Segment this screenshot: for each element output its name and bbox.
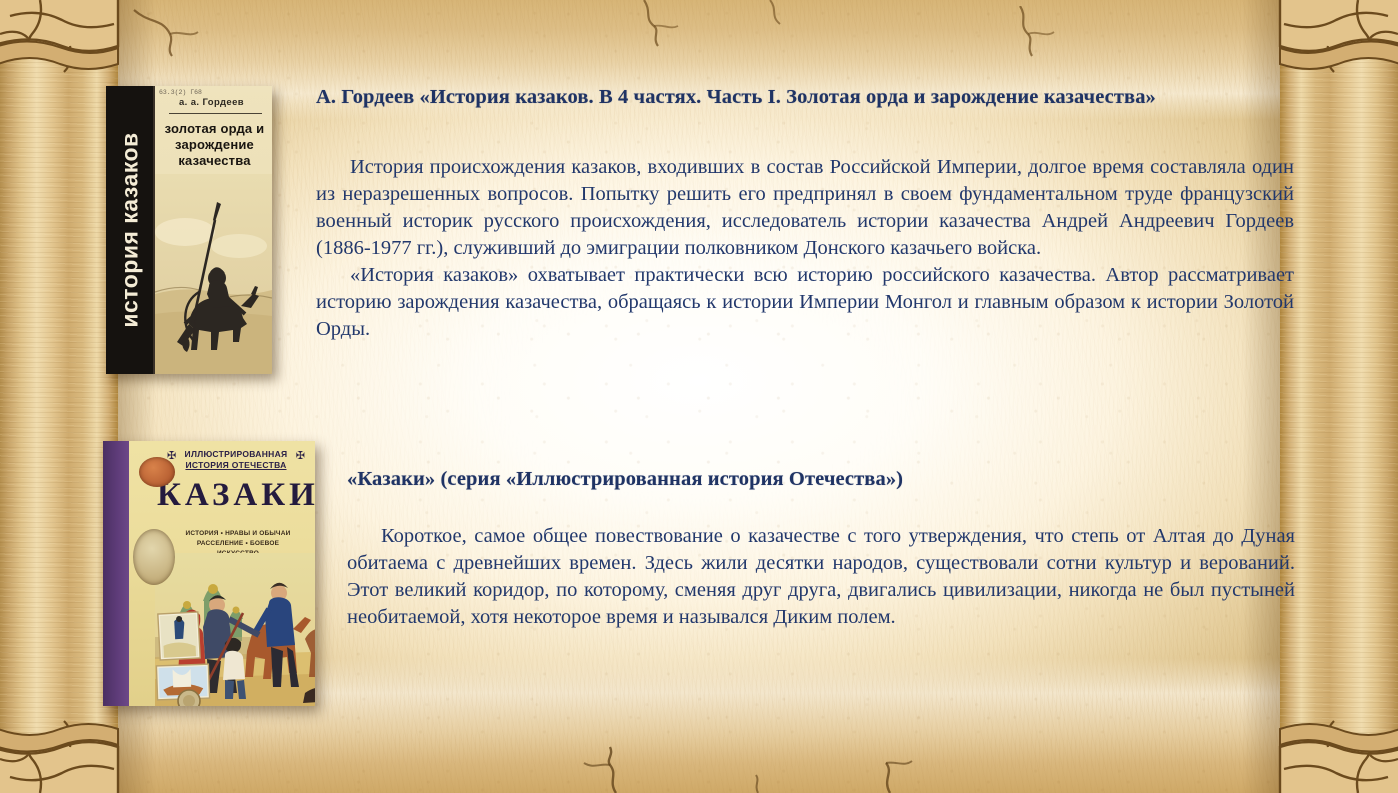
book-series-spine-label: история казаков: [116, 132, 143, 327]
book-series-label: ИЛЛЮСТРИРОВАННАЯ ИСТОРИЯ ОТЕЧЕСТВА: [163, 449, 309, 471]
book-cover-gordeev-spine: история казаков: [106, 86, 155, 374]
book-author-label: а. а. Гордеев: [155, 97, 268, 108]
slide-content: 63.3(2) Г68 а. а. Гордеев золотая орда и…: [0, 0, 1398, 793]
book-title-kazaki: КАЗАКИ: [157, 477, 311, 514]
cover-illustration-horseman: [155, 174, 272, 374]
section-heading-kazaki: «Казаки» (серия «Иллюстрированная истори…: [347, 466, 1295, 493]
paragraph: «История казаков» охватывает практически…: [316, 262, 1294, 343]
library-call-number: 63.3(2) Г68: [159, 89, 202, 97]
book-series-line-2: ИСТОРИЯ ОТЕЧЕСТВА: [185, 460, 286, 470]
oval-portrait-medallion: [133, 529, 175, 585]
paragraph: Короткое, самое общее повествование о ка…: [347, 523, 1295, 631]
book-cover-gordeev: 63.3(2) Г68 а. а. Гордеев золотая орда и…: [106, 86, 272, 374]
wax-seal-ornament: [139, 457, 175, 487]
section-heading-gordeev: А. Гордеев «История казаков. В 4 частях.…: [316, 84, 1294, 111]
paragraph: История происхождения казаков, входивших…: [316, 154, 1294, 262]
book-cover-kazaki: ✠ ✠ ИЛЛЮСТРИРОВАННАЯ ИСТОРИЯ ОТЕЧЕСТВА К…: [103, 441, 315, 706]
book-cover-gordeev-face: 63.3(2) Г68 а. а. Гордеев золотая орда и…: [155, 86, 272, 374]
section-body-kazaki: Короткое, самое общее повествование о ка…: [347, 523, 1295, 631]
book-series-line-1: ИЛЛЮСТРИРОВАННАЯ: [185, 449, 288, 459]
section-body-gordeev: История происхождения казаков, входивших…: [316, 154, 1294, 343]
book-subtitle-line-1: ИСТОРИЯ • НРАВЫ И ОБЫЧАИ: [186, 530, 291, 537]
cover-divider-rule: [169, 113, 262, 114]
slide-canvas: 63.3(2) Г68 а. а. Гордеев золотая орда и…: [0, 0, 1398, 793]
book-cover-kazaki-spine: [103, 441, 129, 706]
cover-illustration-cossacks: [155, 553, 315, 706]
book-title-label: золотая орда и зарождение казачества: [163, 121, 266, 169]
